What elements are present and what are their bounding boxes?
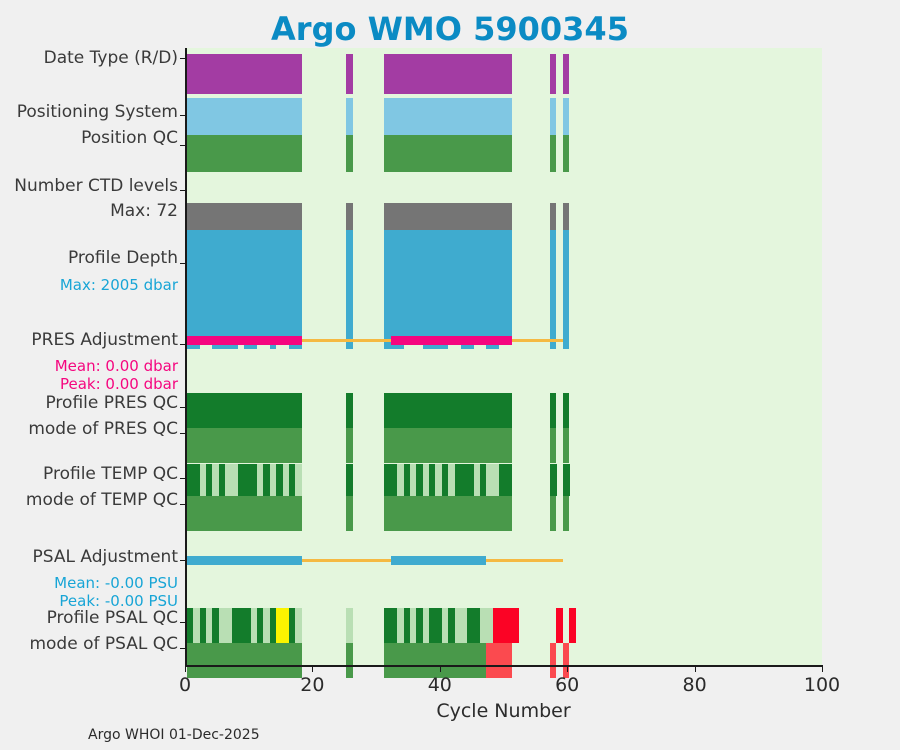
x-tick [440, 665, 441, 672]
row-label-pres-mean: Mean: 0.00 dbar [0, 359, 178, 375]
bar-position-qc [346, 135, 352, 172]
row-label-positioning-system: Positioning System [0, 104, 178, 122]
bar-profile-pres-qc [563, 393, 569, 428]
bar-mode-pres-qc [550, 428, 556, 463]
bar-mode-temp-qc [550, 496, 556, 531]
bar-positioning-system [563, 98, 569, 135]
bar-mode-pres-qc [391, 428, 512, 463]
depth-bottom-notch [448, 345, 461, 349]
page-title: Argo WMO 5900345 [0, 10, 900, 48]
bar-profile-psal-qc [556, 608, 563, 643]
bar-profile-pres-qc [346, 393, 352, 428]
psal-adjustment-value [187, 556, 302, 565]
bar-date-type [550, 54, 556, 94]
bar-positioning-system [187, 98, 302, 135]
bar-mode-temp-qc [391, 496, 512, 531]
bar-mode-pres-qc [187, 428, 302, 463]
bar-profile-temp-qc [563, 464, 570, 496]
y-tick [180, 648, 186, 649]
row-label-mode-temp-qc: mode of TEMP QC [0, 492, 178, 510]
row-label-position-qc: Position QC [0, 130, 178, 148]
bar-mode-psal-qc [187, 643, 302, 678]
row-label-profile-psal-qc: Profile PSAL QC [0, 610, 178, 628]
bar-date-type [346, 54, 352, 94]
row-label-ctd-max: Max: 72 [0, 203, 178, 221]
x-tick-label: 60 [555, 674, 579, 696]
row-label-ctd-levels: Number CTD levels [0, 178, 178, 196]
row-label-mode-psal-qc: mode of PSAL QC [0, 636, 178, 654]
bar-profile-psal-qc [569, 608, 576, 643]
x-tick-label: 80 [683, 674, 707, 696]
depth-bottom-notch [276, 345, 289, 349]
y-tick [180, 58, 186, 59]
pres-adjustment-value [391, 336, 512, 345]
bar-mode-pres-qc [346, 428, 352, 463]
depth-bottom-notch [499, 345, 512, 349]
bar-mode-psal-qc-red [486, 643, 511, 678]
bar-profile-temp-qc [550, 464, 557, 496]
bar-mode-temp-qc [563, 496, 569, 531]
bar-profile-pres-qc [550, 393, 556, 428]
depth-bottom-notch [200, 345, 213, 349]
bar-date-type [187, 54, 302, 94]
row-label-profile-depth: Profile Depth [0, 250, 178, 268]
bar-date-type [563, 54, 569, 94]
y-tick [180, 622, 186, 623]
plot-area [185, 48, 822, 665]
bar-profile-pres-qc [187, 393, 302, 428]
x-tick [567, 665, 568, 672]
x-tick [695, 665, 696, 672]
x-tick-label: 40 [428, 674, 452, 696]
bar-mode-psal-qc-red [563, 643, 569, 678]
bar-mode-pres-qc [563, 428, 569, 463]
bar-position-qc [550, 135, 556, 172]
row-label-psal-mean: Mean: -0.00 PSU [0, 576, 178, 592]
bar-profile-pres-qc [391, 393, 512, 428]
bar-profile-psal-qc [346, 608, 353, 643]
pres-adjustment-value [187, 336, 302, 345]
row-label-psal-adjustment: PSAL Adjustment [0, 549, 178, 567]
x-tick [312, 665, 313, 672]
depth-bottom-notch [404, 345, 423, 349]
bar-positioning-system [391, 98, 512, 135]
bar-position-qc [563, 135, 569, 172]
bar-mode-temp-qc [187, 496, 302, 531]
row-label-date-type: Date Type (R/D) [0, 50, 178, 68]
x-axis-line [185, 665, 822, 667]
y-tick [180, 190, 186, 191]
bar-profile-psal-qc [512, 608, 519, 643]
bar-profile-depth [550, 230, 556, 349]
row-label-profile-pres-qc: Profile PRES QC [0, 395, 178, 413]
y-tick [180, 145, 186, 146]
bar-positioning-system [346, 98, 352, 135]
bar-mode-psal-qc-red [550, 643, 556, 678]
x-tick [822, 665, 823, 672]
x-tick [185, 665, 186, 672]
y-tick [180, 407, 186, 408]
footer-credit: Argo WHOI 01-Dec-2025 [88, 727, 260, 743]
bar-profile-psal-qc [295, 608, 302, 643]
row-label-pres-adjustment: PRES Adjustment [0, 332, 178, 350]
bar-positioning-system [550, 98, 556, 135]
x-axis-label: Cycle Number [185, 700, 822, 722]
bar-profile-depth [391, 230, 512, 349]
y-tick [180, 504, 186, 505]
row-label-mode-pres-qc: mode of PRES QC [0, 421, 178, 439]
x-tick-label: 0 [179, 674, 191, 696]
bar-mode-psal-qc [346, 643, 352, 678]
bar-profile-temp-qc [295, 464, 302, 496]
depth-bottom-notch [238, 345, 244, 349]
bar-date-type [391, 54, 512, 94]
row-label-depth-max: Max: 2005 dbar [0, 278, 178, 294]
depth-bottom-notch [257, 345, 270, 349]
y-tick [180, 263, 186, 264]
bar-profile-depth [563, 230, 569, 349]
x-tick-label: 100 [804, 674, 840, 696]
y-tick [180, 560, 186, 561]
row-label-profile-temp-qc: Profile TEMP QC [0, 466, 178, 484]
y-tick [180, 344, 186, 345]
x-tick-label: 20 [300, 674, 324, 696]
bar-profile-temp-qc [346, 464, 353, 496]
row-label-pres-peak: Peak: 0.00 dbar [0, 377, 178, 393]
y-tick [180, 478, 186, 479]
bar-position-qc [391, 135, 512, 172]
bar-profile-depth [187, 230, 302, 349]
bar-profile-depth [346, 230, 352, 349]
bar-position-qc [187, 135, 302, 172]
y-tick [180, 115, 186, 116]
depth-bottom-notch [474, 345, 487, 349]
bar-mode-temp-qc [346, 496, 352, 531]
psal-adjustment-value [391, 556, 487, 565]
bar-profile-temp-qc [506, 464, 513, 496]
y-tick [180, 433, 186, 434]
